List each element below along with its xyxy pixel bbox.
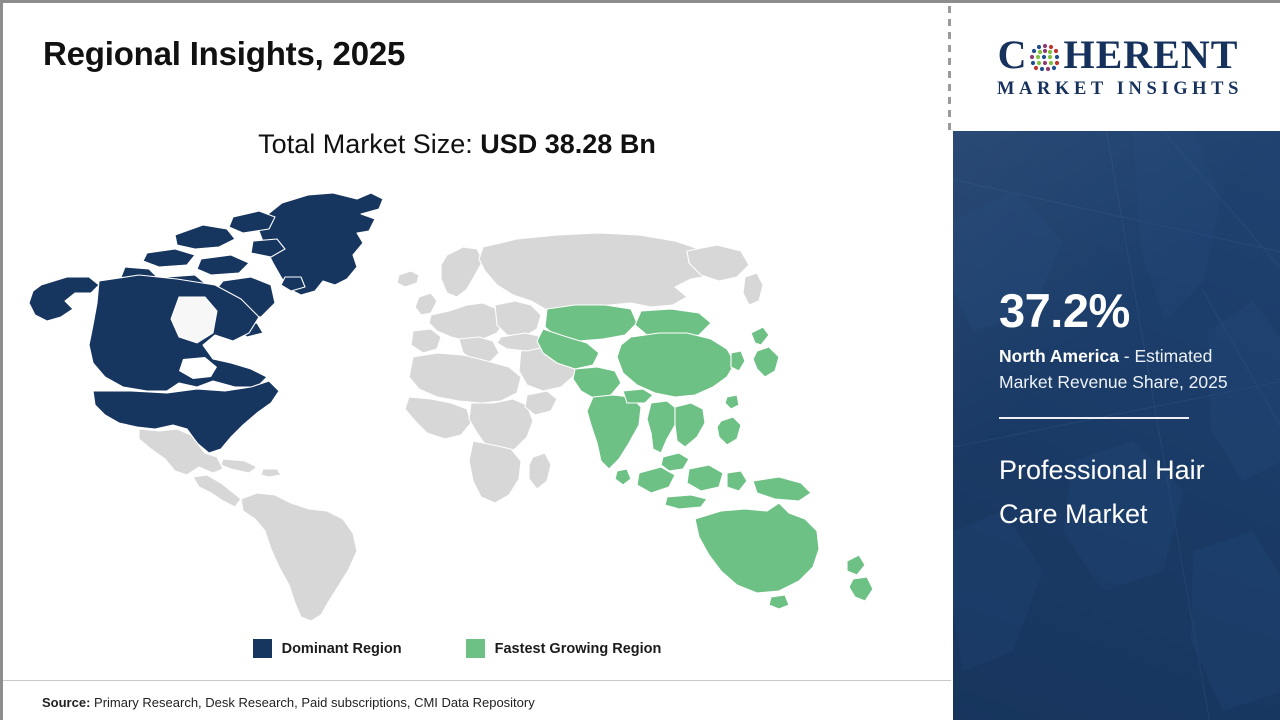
logo-wordmark: C [968,35,1268,75]
map-region-sri-lanka [615,469,631,485]
source-label: Source: [42,695,90,710]
panel-divider [999,417,1189,419]
total-market-size: Total Market Size: USD 38.28 Bn [3,129,911,160]
logo-word-part2: HERENT [1063,35,1238,75]
map-legend: Dominant Region Fastest Growing Region [3,639,911,658]
world-map [27,181,907,621]
world-map-svg [27,181,907,621]
map-region-tasmania [769,595,789,609]
map-region-sulawesi [727,471,747,491]
map-region-china [617,333,735,397]
map-region-south-america [241,493,357,621]
logo-tagline: MARKET INSIGHTS [968,79,1268,100]
left-content-pane: Regional Insights, 2025 Total Market Siz… [3,3,951,720]
map-region-canada-arctic-4 [197,255,249,275]
total-market-size-value: USD 38.28 Bn [480,129,656,159]
source-divider [3,680,951,681]
map-region-iberia [411,329,441,353]
legend-swatch-fastest-growing [466,639,485,658]
dotted-globe-icon [1028,41,1062,75]
map-region-madagascar [529,453,551,489]
map-region-new-guinea [753,477,811,501]
vertical-dashed-divider [948,6,951,131]
map-region-java [665,495,707,509]
region-name: North America [999,346,1119,366]
map-region-north-africa [409,353,521,403]
map-region-taiwan [725,395,739,409]
map-region-myanmar-thailand [647,401,677,453]
map-region-nepal-bhutan [623,389,653,403]
map-region-west-africa [405,397,471,439]
map-region-uk-ireland [415,293,437,315]
source-note: Source: Primary Research, Desk Research,… [42,695,535,710]
map-region-caribbean-islands [261,469,281,477]
map-region-india [587,395,641,469]
map-region-afghanistan-pakistan [573,367,621,399]
map-region-eastern-europe [495,301,541,337]
map-region-indochina [675,403,705,447]
page-title: Regional Insights, 2025 [43,35,405,73]
market-share-value: 37.2% [999,287,1237,334]
map-region-russia [479,233,723,311]
map-region-australia [695,503,819,593]
infographic-root: Regional Insights, 2025 Total Market Siz… [0,0,1280,720]
map-region-alaska [29,277,99,321]
market-name: Professional Hair Care Market [999,449,1237,536]
market-share-caption: North America - Estimated Market Revenue… [999,344,1237,395]
map-region-korea [731,351,745,371]
map-region-scandinavia [441,247,483,297]
map-region-japan [751,327,779,377]
total-market-size-label: Total Market Size: [258,129,480,159]
source-text: Primary Research, Desk Research, Paid su… [90,695,534,710]
map-region-central-america [193,475,241,507]
map-region-malaysia [661,453,689,471]
map-region-borneo [687,465,723,491]
map-region-iceland [397,271,419,287]
panel-content: 37.2% North America - Estimated Market R… [953,131,1280,720]
legend-label-dominant: Dominant Region [282,641,402,657]
legend-item-dominant: Dominant Region [253,639,402,658]
map-region-southern-africa [469,441,521,503]
map-region-western-europe [429,303,505,341]
logo-word-part1: C [998,35,1028,75]
map-region-cuba [221,459,257,473]
legend-item-fastest-growing: Fastest Growing Region [466,639,662,658]
brand-logo: C [953,3,1280,131]
map-region-new-zealand [847,555,873,601]
highlight-panel: 37.2% North America - Estimated Market R… [953,131,1280,720]
map-region-philippines [717,417,741,445]
legend-swatch-dominant [253,639,272,658]
map-region-kamchatka [743,273,763,305]
map-region-canada-arctic-3 [143,249,195,267]
map-region-canada-arctic-1 [175,225,235,249]
map-region-horn-of-africa [525,391,557,415]
legend-label-fastest-growing: Fastest Growing Region [495,641,662,657]
